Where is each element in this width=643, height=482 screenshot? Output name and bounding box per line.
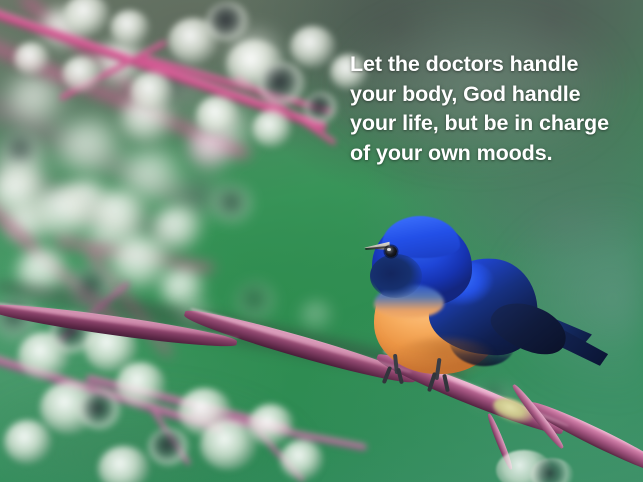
quote-line-4: of your own moods.: [350, 139, 640, 169]
branch-flower-cluster-dark: [530, 458, 574, 482]
quote-line-1: Let the doctors handle: [350, 50, 640, 80]
bird-flycatcher: [352, 214, 602, 414]
bird-cheek: [370, 254, 422, 298]
bird-eye-highlight: [387, 248, 391, 251]
quote-image-canvas: Let the doctors handle your body, God ha…: [0, 0, 643, 482]
bird-claw-front-a: [382, 366, 392, 384]
quote-text: Let the doctors handle your body, God ha…: [350, 50, 640, 168]
quote-line-2: your body, God handle: [350, 80, 640, 110]
quote-line-3: your life, but be in charge: [350, 109, 640, 139]
